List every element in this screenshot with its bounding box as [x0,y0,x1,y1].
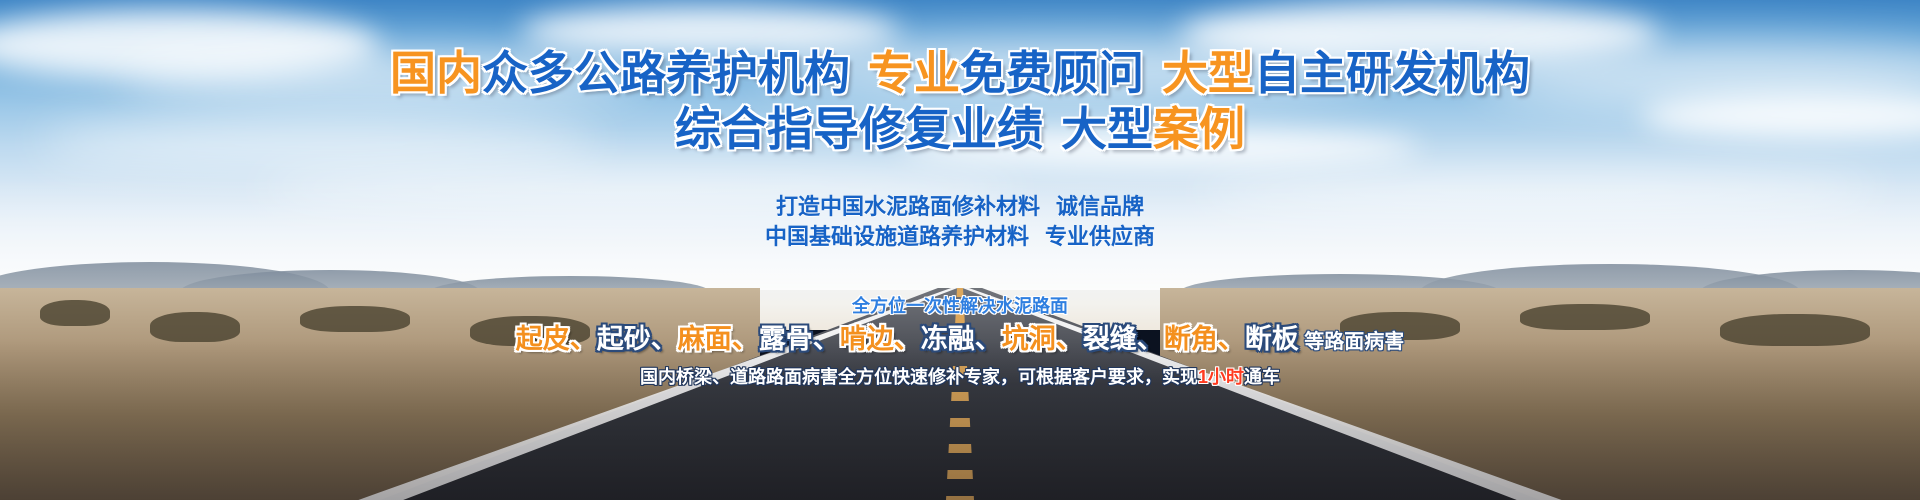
defect-item: 麻面 [678,324,732,354]
headline2-seg-cases: 案例 [1153,103,1245,155]
mid-line-2: 中国基础设施道路养护材料专业供应商 [0,222,1920,252]
defect-separator: 、 [732,324,759,354]
defect-separator: 、 [1137,324,1164,354]
defect-separator: 、 [651,324,678,354]
headline-line-1: 国内众多公路养护机构专业免费顾问大型自主研发机构 [0,46,1920,100]
bottom-line3-highlight: 1小时 [1198,367,1244,387]
defect-item: 断角 [1164,324,1218,354]
headline1-seg-domestic: 国内 [390,47,482,99]
bottom-line-2: 起皮、起砂、麻面、露骨、啃边、冻融、坑洞、裂缝、断角、断板 等路面病害 [0,320,1920,361]
defect-item: 坑洞 [1002,324,1056,354]
defect-item: 起砂 [597,324,651,354]
headline1-seg-agencies: 众多公路养护机构 [482,47,850,99]
defect-separator: 、 [570,324,597,354]
headline1-seg-free-consult: 免费顾问 [960,47,1144,99]
bottom-line3-suffix: 通车 [1244,367,1280,387]
headline2-seg-guidance: 综合指导修复业绩 [675,103,1043,155]
mid-line1-brand: 诚信品牌 [1056,194,1144,219]
mid-line2-supplier: 专业供应商 [1045,224,1155,249]
bottom-text-block: 全方位一次性解决水泥路面 起皮、起砂、麻面、露骨、啃边、冻融、坑洞、裂缝、断角、… [0,294,1920,390]
mid-line2-main: 中国基础设施道路养护材料 [765,224,1029,249]
defect-separator: 、 [894,324,921,354]
defect-item: 断板 [1245,324,1299,354]
defect-separator: 、 [975,324,1002,354]
defect-item: 冻融 [921,324,975,354]
defect-item: 裂缝 [1083,324,1137,354]
mid-line1-main: 打造中国水泥路面修补材料 [776,194,1040,219]
bottom-line-1: 全方位一次性解决水泥路面 [0,294,1920,318]
defect-separator: 、 [813,324,840,354]
promo-banner: 国内众多公路养护机构专业免费顾问大型自主研发机构 综合指导修复业绩大型案例 打造… [0,0,1920,500]
defect-separator: 、 [1218,324,1245,354]
headline1-seg-large: 大型 [1162,47,1254,99]
defects-tail-label: 等路面病害 [1299,331,1405,353]
defect-separator: 、 [1056,324,1083,354]
bottom-line-3: 国内桥梁、道路路面病害全方位快速修补专家，可根据客户要求，实现1小时通车 [0,364,1920,390]
headline2-seg-large: 大型 [1061,103,1153,155]
bottom-line3-prefix: 国内桥梁、道路路面病害全方位快速修补专家，可根据客户要求，实现 [640,367,1198,387]
headline-line-2: 综合指导修复业绩大型案例 [0,102,1920,156]
defect-item: 露骨 [759,324,813,354]
banner-content: 国内众多公路养护机构专业免费顾问大型自主研发机构 综合指导修复业绩大型案例 打造… [0,0,1920,500]
mid-text-block: 打造中国水泥路面修补材料诚信品牌 中国基础设施道路养护材料专业供应商 [0,192,1920,252]
mid-line-1: 打造中国水泥路面修补材料诚信品牌 [0,192,1920,222]
defect-item: 起皮 [516,324,570,354]
defect-item: 啃边 [840,324,894,354]
headline1-seg-professional: 专业 [868,47,960,99]
headline1-seg-rnd: 自主研发机构 [1254,47,1530,99]
